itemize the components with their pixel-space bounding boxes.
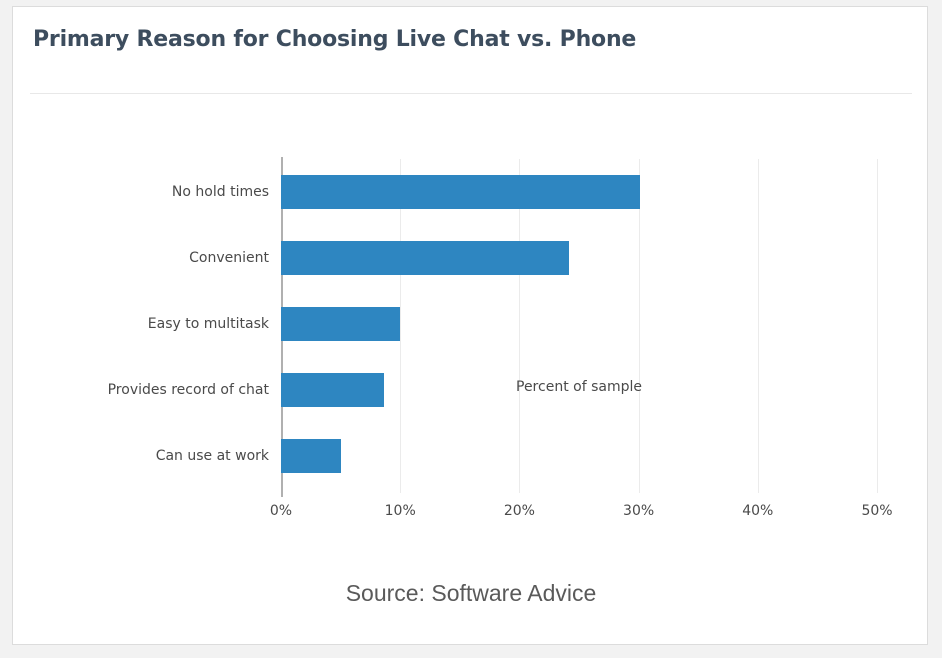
gridline [877,159,878,493]
x-tick-label: 30% [623,503,654,519]
bar-row: No hold times [281,159,877,225]
category-label: Easy to multitask [148,307,269,341]
x-tick-label: 10% [385,503,416,519]
bar-row: Easy to multitask [281,291,877,357]
x-tick-label: 20% [504,503,535,519]
bar[interactable] [281,439,341,473]
bar-row: Can use at work [281,423,877,489]
bar[interactable] [281,175,640,209]
chart-card: Primary Reason for Choosing Live Chat vs… [12,6,928,645]
bar[interactable] [281,241,569,275]
source-note: Source: Software Advice [13,580,929,607]
category-label: Provides record of chat [108,373,269,407]
category-label: Convenient [189,241,269,275]
plot-area: 0%10%20%30%40%50% No hold timesConvenien… [281,159,877,493]
x-axis-title: Percent of sample [281,379,877,395]
category-label: Can use at work [156,439,269,473]
x-tick-label: 0% [270,503,292,519]
bar-row: Convenient [281,225,877,291]
category-label: No hold times [172,175,269,209]
bar[interactable] [281,307,400,341]
x-tick-label: 50% [861,503,892,519]
chart-plot: 0%10%20%30%40%50% No hold timesConvenien… [13,7,929,646]
x-tick-label: 40% [742,503,773,519]
